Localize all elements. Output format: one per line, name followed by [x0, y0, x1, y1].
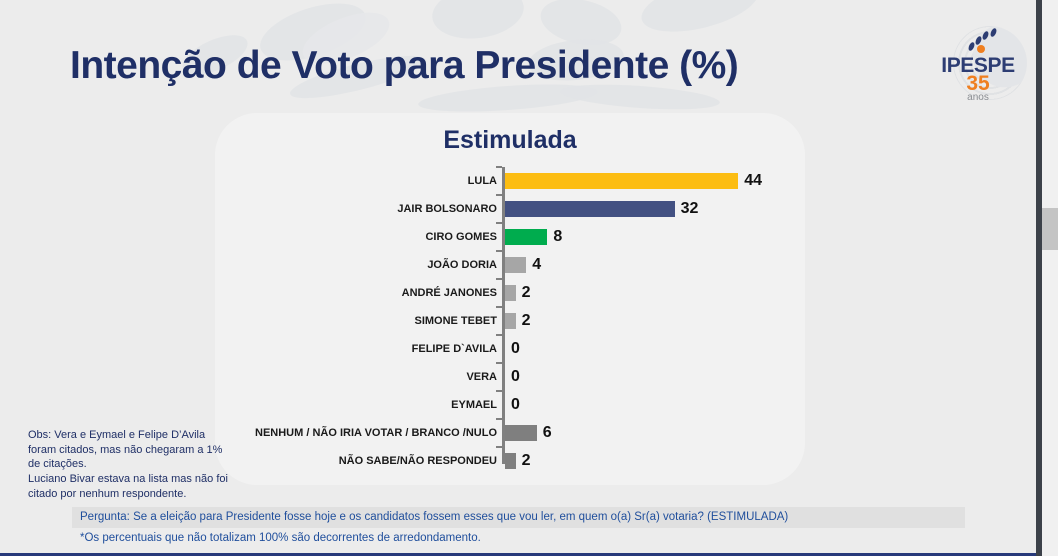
bar-value-label: 2 — [522, 452, 531, 470]
bar — [505, 257, 526, 273]
bar-category-label: SIMONE TEBET — [414, 315, 497, 327]
bar-category-label: LULA — [468, 175, 497, 187]
ipespe-logo: IPESPE 35 anos — [935, 22, 1021, 106]
bar-value-label: 4 — [532, 256, 541, 274]
axis-tick — [496, 362, 502, 364]
logo-dot-orange — [977, 45, 985, 53]
question-band: Pergunta: Se a eleição para Presidente f… — [72, 507, 965, 528]
bar-row: JAIR BOLSONARO32 — [215, 195, 805, 223]
bar-value-label: 32 — [681, 200, 699, 218]
logo-dots — [969, 28, 1009, 54]
bar-row: EYMAEL0 — [215, 391, 805, 419]
bar-row: VERA0 — [215, 363, 805, 391]
bar — [505, 173, 738, 189]
bar-value-label: 2 — [522, 312, 531, 330]
axis-tick — [496, 222, 502, 224]
slide-canvas: Intenção de Voto para Presidente (%) IPE… — [0, 0, 1036, 556]
bar-category-label: NÃO SABE/NÃO RESPONDEU — [339, 455, 497, 467]
question-text: Pergunta: Se a eleição para Presidente f… — [80, 511, 788, 523]
bar — [505, 201, 675, 217]
axis-tick — [496, 194, 502, 196]
axis-tick — [496, 250, 502, 252]
axis-tick — [496, 390, 502, 392]
background-blob — [429, 0, 527, 44]
scrollbar-track[interactable] — [1042, 0, 1058, 556]
chart-card: Estimulada LULA44JAIR BOLSONARO32CIRO GO… — [215, 113, 805, 485]
axis-tick — [496, 166, 502, 168]
bar-value-label: 0 — [511, 368, 520, 386]
bar-category-label: CIRO GOMES — [425, 231, 497, 243]
bar-row: CIRO GOMES8 — [215, 223, 805, 251]
bar-category-label: VERA — [466, 371, 497, 383]
chart-subtitle: Estimulada — [215, 126, 805, 155]
logo-years-label: anos — [939, 92, 1017, 103]
bar-row: SIMONE TEBET2 — [215, 307, 805, 335]
bar-row: ANDRÉ JANONES2 — [215, 279, 805, 307]
bar — [505, 453, 516, 469]
bar — [505, 313, 516, 329]
bar — [505, 425, 537, 441]
bar-category-label: FELIPE D`AVILA — [412, 343, 497, 355]
axis-tick — [496, 418, 502, 420]
bar — [505, 229, 547, 245]
logo-dot — [989, 27, 997, 37]
bar-value-label: 8 — [553, 228, 562, 246]
bar-row: JOÃO DORIA4 — [215, 251, 805, 279]
background-blob — [636, 0, 764, 42]
page-title: Intenção de Voto para Presidente (%) — [70, 44, 738, 88]
bar — [505, 285, 516, 301]
rounding-note: *Os percentuais que não totalizam 100% s… — [80, 532, 481, 544]
bar-value-label: 44 — [744, 172, 762, 190]
bar-row: FELIPE D`AVILA0 — [215, 335, 805, 363]
bar-row: LULA44 — [215, 167, 805, 195]
bar-value-label: 2 — [522, 284, 531, 302]
bar-value-label: 0 — [511, 396, 520, 414]
scrollbar-thumb[interactable] — [1042, 208, 1058, 250]
bar-category-label: EYMAEL — [451, 399, 497, 411]
bar-value-label: 6 — [543, 424, 552, 442]
bar-category-label: JOÃO DORIA — [427, 259, 497, 271]
bar-chart: LULA44JAIR BOLSONARO32CIRO GOMES8JOÃO DO… — [215, 165, 805, 475]
axis-tick — [496, 446, 502, 448]
logo-dot — [981, 30, 989, 40]
bar-row: NENHUM / NÃO IRIA VOTAR / BRANCO /NULO6 — [215, 419, 805, 447]
axis-tick — [496, 334, 502, 336]
bar-row: NÃO SABE/NÃO RESPONDEU2 — [215, 447, 805, 475]
bar-category-label: ANDRÉ JANONES — [402, 287, 497, 299]
axis-tick — [496, 278, 502, 280]
axis-tick — [496, 306, 502, 308]
observation-note: Obs: Vera e Eymael e Felipe D’Avila fora… — [28, 428, 228, 502]
bar-category-label: NENHUM / NÃO IRIA VOTAR / BRANCO /NULO — [255, 427, 497, 439]
bar-value-label: 0 — [511, 340, 520, 358]
bar-category-label: JAIR BOLSONARO — [397, 203, 497, 215]
